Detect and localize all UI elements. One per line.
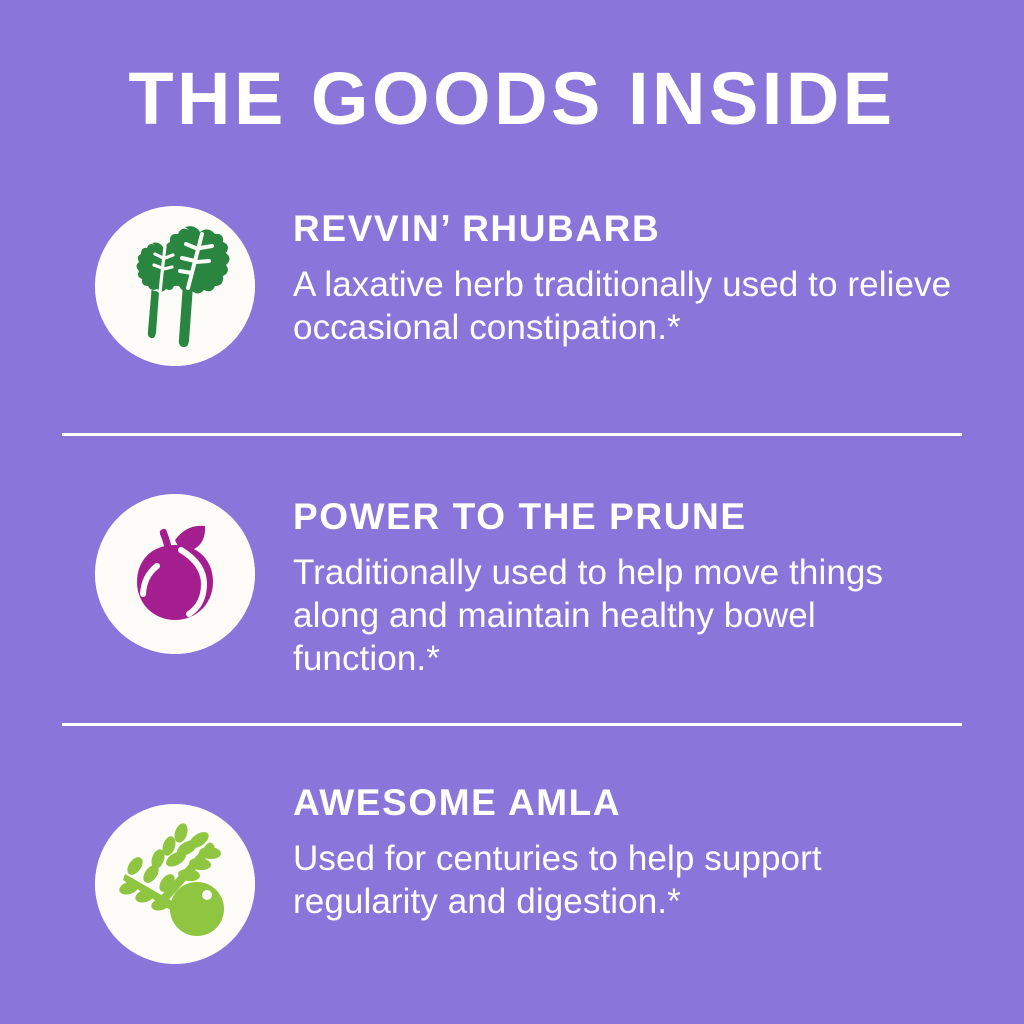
ingredient-row-prune: POWER TO THE PRUNE Traditionally used to… xyxy=(62,494,962,680)
prune-fruit-icon xyxy=(95,494,255,654)
amla-berry-icon xyxy=(95,804,255,964)
amla-text-block: AWESOME AMLA Used for centuries to help … xyxy=(255,780,962,923)
rhubarb-leaves-icon xyxy=(95,206,255,366)
ingredient-body-rhubarb: A laxative herb traditionally used to re… xyxy=(293,263,953,349)
amla-icon-container xyxy=(95,804,255,964)
goods-inside-infographic: THE GOODS INSIDE xyxy=(0,0,1024,1024)
ingredient-row-amla: AWESOME AMLA Used for centuries to help … xyxy=(62,780,962,964)
ingredient-body-amla: Used for centuries to help support regul… xyxy=(293,837,953,923)
prune-text-block: POWER TO THE PRUNE Traditionally used to… xyxy=(255,494,962,680)
ingredient-heading-rhubarb: REVVIN’ RHUBARB xyxy=(293,210,962,249)
rhubarb-icon-container xyxy=(95,206,255,366)
icon-circle-background xyxy=(95,206,255,366)
prune-icon-container xyxy=(95,494,255,654)
section-divider-2 xyxy=(62,723,962,726)
section-divider-1 xyxy=(62,433,962,436)
rhubarb-text-block: REVVIN’ RHUBARB A laxative herb traditio… xyxy=(255,206,962,349)
page-title: THE GOODS INSIDE xyxy=(0,62,1024,136)
ingredient-heading-amla: AWESOME AMLA xyxy=(293,784,962,823)
icon-circle-background xyxy=(95,494,255,654)
icon-circle-background xyxy=(95,804,255,964)
ingredient-body-prune: Traditionally used to help move things a… xyxy=(293,551,953,680)
ingredient-heading-prune: POWER TO THE PRUNE xyxy=(293,498,962,537)
ingredient-row-rhubarb: REVVIN’ RHUBARB A laxative herb traditio… xyxy=(62,206,962,366)
